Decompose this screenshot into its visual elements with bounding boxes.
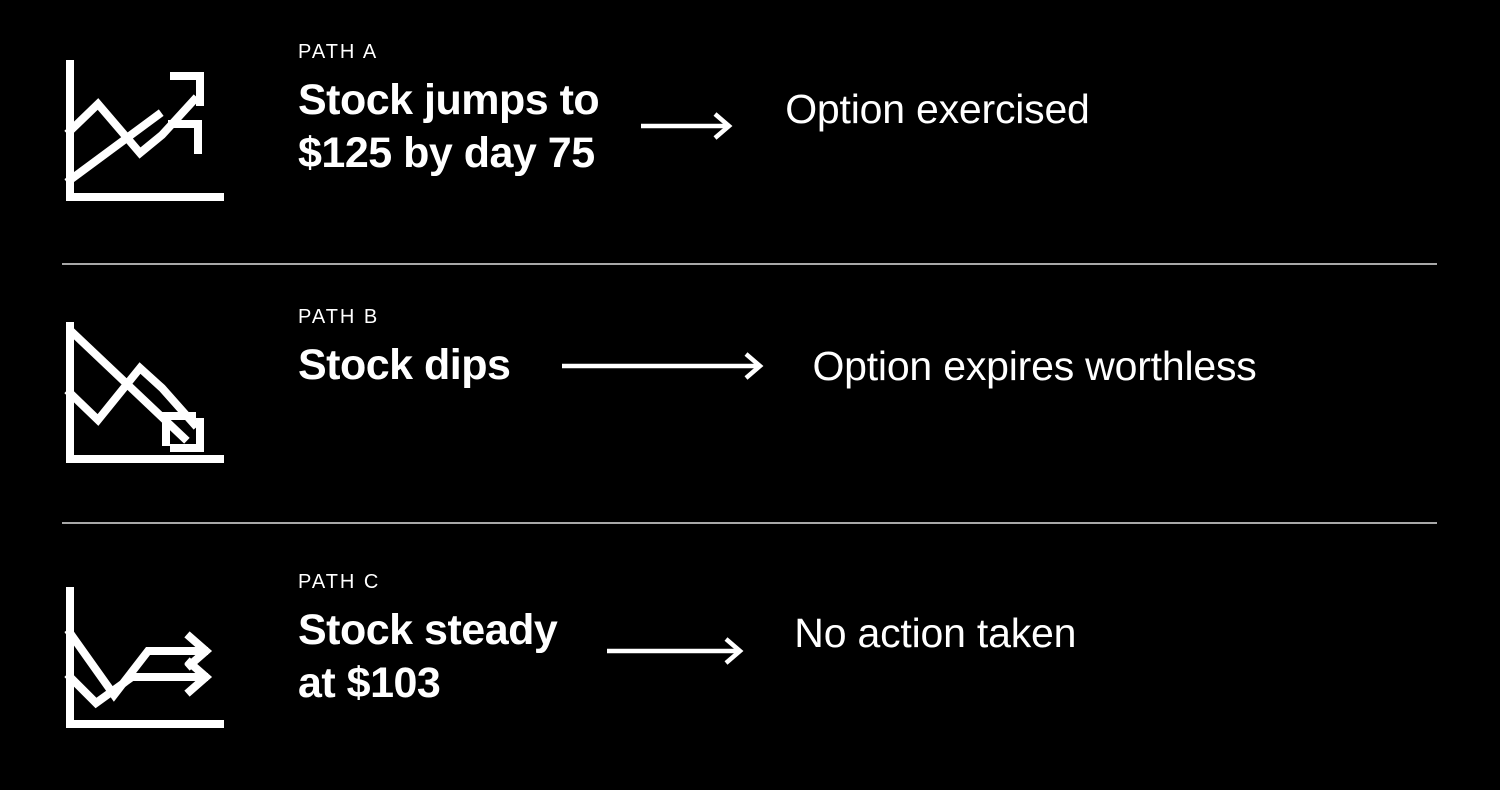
arrow-right-icon	[605, 634, 750, 668]
path-a-outcome: Option exercised	[785, 84, 1089, 134]
path-c-kicker: PATH C	[298, 570, 1500, 594]
path-b-outcome: Option expires worthless	[812, 341, 1256, 391]
path-b-content: PATH B Stock dips Option expires worthle…	[298, 305, 1500, 392]
divider-a-b	[62, 263, 1437, 265]
path-row-c: PATH C Stock steady at $103 No action ta…	[0, 570, 1500, 770]
path-a-statement: Stock jumps to $125 by day 75 Option exe…	[298, 74, 1500, 180]
path-b-statement: Stock dips Option expires worthless	[298, 339, 1500, 392]
path-c-headline: Stock steady at $103	[298, 604, 557, 710]
divider-b-c	[62, 522, 1437, 524]
chart-trend-flat-icon	[62, 585, 224, 735]
path-b-kicker: PATH B	[298, 305, 1500, 329]
arrow-right-icon	[639, 109, 739, 143]
path-c-statement: Stock steady at $103 No action taken	[298, 604, 1500, 710]
path-a-headline: Stock jumps to $125 by day 75	[298, 74, 599, 180]
scenario-paths-board: PATH A Stock jumps to $125 by day 75 Opt…	[0, 0, 1500, 790]
chart-trend-up-icon	[62, 58, 224, 208]
path-a-content: PATH A Stock jumps to $125 by day 75 Opt…	[298, 40, 1500, 180]
path-b-headline: Stock dips	[298, 339, 510, 392]
path-c-outcome: No action taken	[794, 608, 1076, 658]
chart-trend-down-icon	[62, 320, 224, 470]
path-row-a: PATH A Stock jumps to $125 by day 75 Opt…	[0, 40, 1500, 250]
path-row-b: PATH B Stock dips Option expires worthle…	[0, 305, 1500, 515]
path-a-kicker: PATH A	[298, 40, 1500, 64]
arrow-right-icon	[560, 349, 770, 383]
path-c-content: PATH C Stock steady at $103 No action ta…	[298, 570, 1500, 710]
